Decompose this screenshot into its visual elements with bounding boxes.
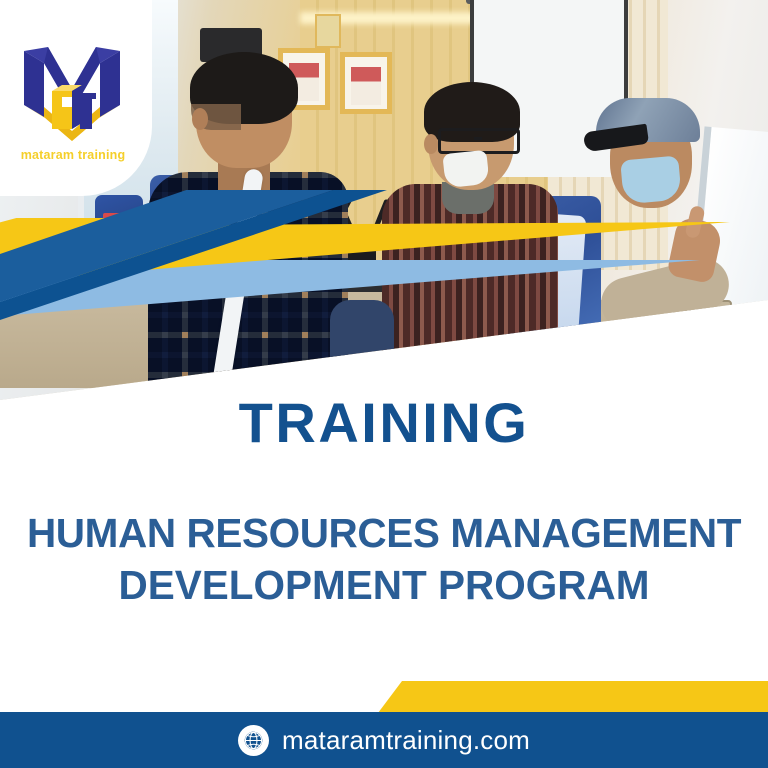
- page-title-line-1: HUMAN RESOURCES MANAGEMENT: [0, 508, 768, 560]
- website-url[interactable]: mataramtraining.com: [282, 725, 530, 756]
- training-poster: mataram training TRAINING HUMAN RESOURCE…: [0, 0, 768, 768]
- page-title-line-2: DEVELOPMENT PROGRAM: [0, 560, 768, 612]
- page-title: HUMAN RESOURCES MANAGEMENT DEVELOPMENT P…: [0, 508, 768, 612]
- ear: [192, 108, 208, 130]
- globe-icon: [238, 725, 269, 756]
- mataram-m-logo-icon: [18, 45, 126, 141]
- logo-panel: mataram training: [0, 0, 152, 196]
- footer-yellow-accent: [378, 681, 768, 713]
- page-title-eyebrow: TRAINING: [0, 395, 768, 451]
- footer-bar: mataramtraining.com: [0, 712, 768, 768]
- ear: [424, 134, 438, 154]
- logo-tagline: mataram training: [0, 148, 146, 162]
- portrait-frame-right: [340, 52, 392, 114]
- person-batik-shirt-body: [382, 184, 558, 414]
- emblem-plaque: [315, 14, 341, 48]
